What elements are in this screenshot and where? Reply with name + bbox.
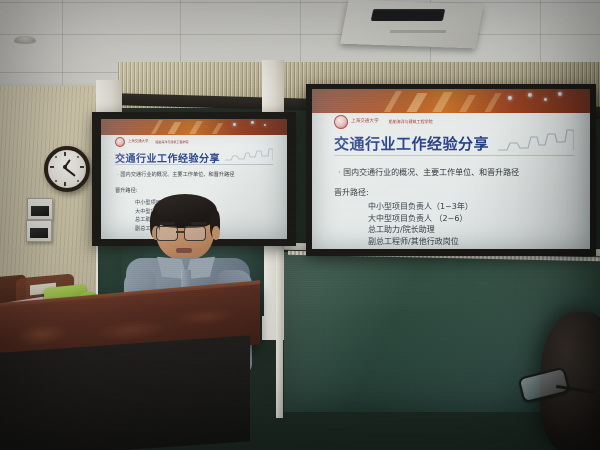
presenter-glasses-icon xyxy=(184,226,206,241)
university-seal-icon xyxy=(115,137,125,147)
right-slide-banner xyxy=(312,89,590,113)
presenter-glasses-icon xyxy=(156,226,178,241)
left-slide-bullet: · 国内交通行业的概况、主要工作单位、和晋升路径 xyxy=(117,171,234,178)
wall-clock xyxy=(44,146,90,192)
left-slide-banner xyxy=(101,119,287,135)
right-slide-list: 中小型项目负责人（1~3年） 大中型项目负责人 （2~6） 总工助力/院长助理 … xyxy=(368,201,473,247)
left-slide-title: 交通行业工作经验分享 xyxy=(115,150,220,165)
wall-control-panel-top[interactable] xyxy=(27,198,53,220)
left-department-name: 船舶海洋与建筑工程学院 xyxy=(155,141,188,144)
university-seal-icon xyxy=(334,115,348,129)
right-slide-subhead: 晋升路径: xyxy=(334,187,369,198)
list-item: 副总工程师/其他行政岗位 xyxy=(368,236,473,248)
skyline-decoration-icon xyxy=(225,147,273,161)
blackboard-frame-left xyxy=(276,250,283,418)
wall-control-panel-bottom[interactable] xyxy=(26,220,52,242)
lectern-base-shadow xyxy=(0,335,250,450)
projector-lens-icon xyxy=(371,9,446,21)
right-projection-screen: 上海交通大学 船舶海洋与建筑工程学院 交通行业工作经验分享 · 国内交通行业的概… xyxy=(306,84,596,256)
lecture-hall-photo: 上海交通大学 船舶海洋与建筑工程学院 交通行业工作经验分享 · 国内交通行业的概… xyxy=(0,0,600,450)
list-item: 总工助力/院长助理 xyxy=(368,224,473,236)
projector-vent xyxy=(390,30,447,33)
right-department-name: 船舶海洋与建筑工程学院 xyxy=(389,120,433,124)
right-slide-header: 上海交通大学 船舶海洋与建筑工程学院 xyxy=(334,115,433,129)
right-bullet-text: 国内交通行业的概况、主要工作单位、和晋升路径 xyxy=(343,168,519,177)
skyline-decoration-icon xyxy=(498,127,574,151)
list-item: 中小型项目负责人（1~3年） xyxy=(368,201,473,213)
smoke-detector-icon xyxy=(14,36,36,44)
list-item: 大中型项目负责人 （2~6） xyxy=(368,213,473,225)
right-slide-bullet: · 国内交通行业的概况、主要工作单位、和晋升路径 xyxy=(338,167,519,178)
left-slide-header: 上海交通大学 船舶海洋与建筑工程学院 xyxy=(115,137,188,147)
right-university-name: 上海交通大学 xyxy=(351,120,379,125)
right-slide-title: 交通行业工作经验分享 xyxy=(334,133,489,154)
ceiling-projector xyxy=(340,0,484,48)
right-slide-surface: 上海交通大学 船舶海洋与建筑工程学院 交通行业工作经验分享 · 国内交通行业的概… xyxy=(312,89,590,249)
left-bullet-text: 国内交通行业的概况、主要工作单位、和晋升路径 xyxy=(120,172,234,178)
left-university-name: 上海交通大学 xyxy=(128,140,148,143)
left-slide-subhead: 晋升路径: xyxy=(115,187,138,194)
